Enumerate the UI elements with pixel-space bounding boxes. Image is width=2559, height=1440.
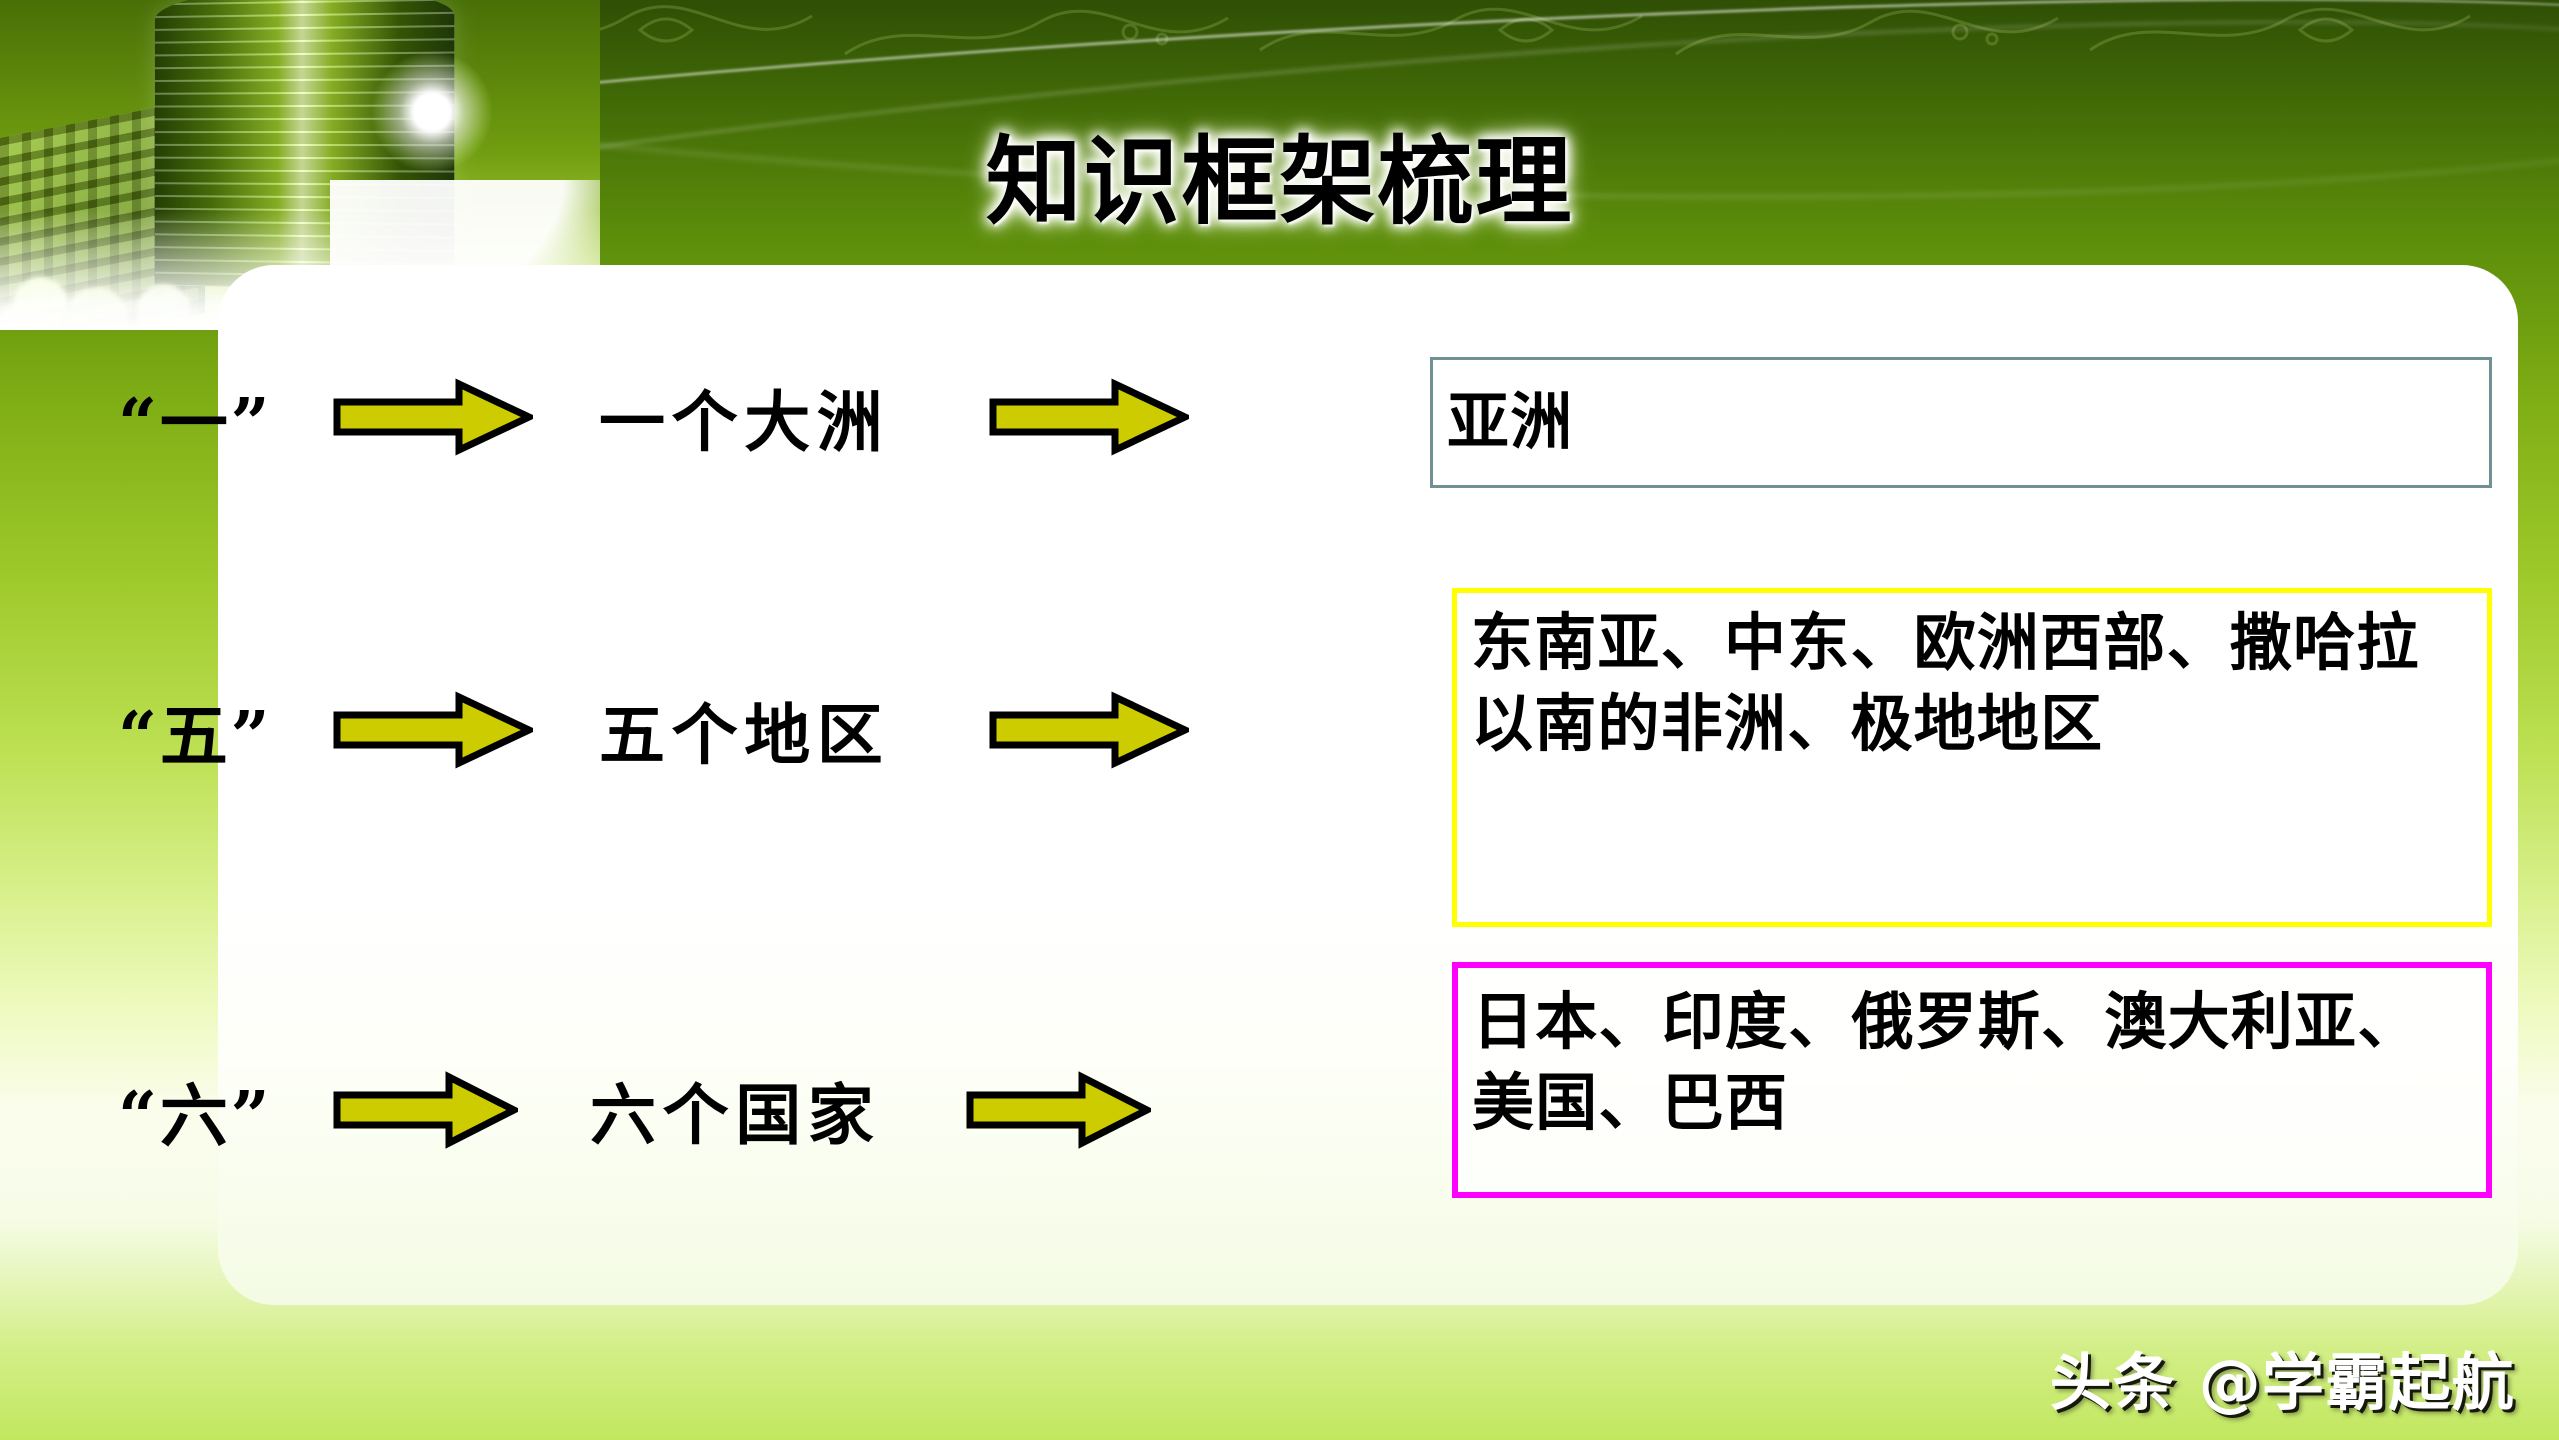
row-one-arrow-2 [989,378,1189,456]
row-two-arrow-2 [989,691,1189,769]
row-one-key: “一” [118,368,333,467]
page-title: 知识框架梳理 [0,104,2559,243]
row-three-arrow-1 [333,1071,518,1149]
row-one-arrow-1 [333,378,533,456]
answer-text-regions: 东南亚、中东、欧洲西部、撒哈拉以南的非洲、极地地区 [1457,603,2487,764]
row-three: “六” 六个国家 [118,1055,1418,1165]
row-three-phrase: 六个国家 [590,1062,960,1158]
row-two-phrase: 五个地区 [599,682,979,778]
row-one-phrase: 一个大洲 [599,369,979,465]
row-three-key: “六” [118,1061,333,1160]
answer-box-continent: 亚洲 [1430,357,2492,488]
answer-text-countries: 日本、印度、俄罗斯、澳大利亚、美国、巴西 [1458,982,2486,1143]
row-two-key: “五” [118,681,333,780]
watermark: 头条 @学霸起航 [2049,1332,2515,1422]
row-one: “一” 一个大洲 [118,362,1418,472]
answer-box-countries: 日本、印度、俄罗斯、澳大利亚、美国、巴西 [1452,962,2492,1198]
answer-box-regions: 东南亚、中东、欧洲西部、撒哈拉以南的非洲、极地地区 [1452,588,2492,927]
row-three-arrow-2 [966,1071,1151,1149]
answer-text-continent: 亚洲 [1433,382,1587,463]
slide-canvas: 知识框架梳理 “一” 一个大洲 亚洲 “五” 五个地区 [0,0,2559,1440]
row-two: “五” 五个地区 [118,675,1418,785]
row-two-arrow-1 [333,691,533,769]
